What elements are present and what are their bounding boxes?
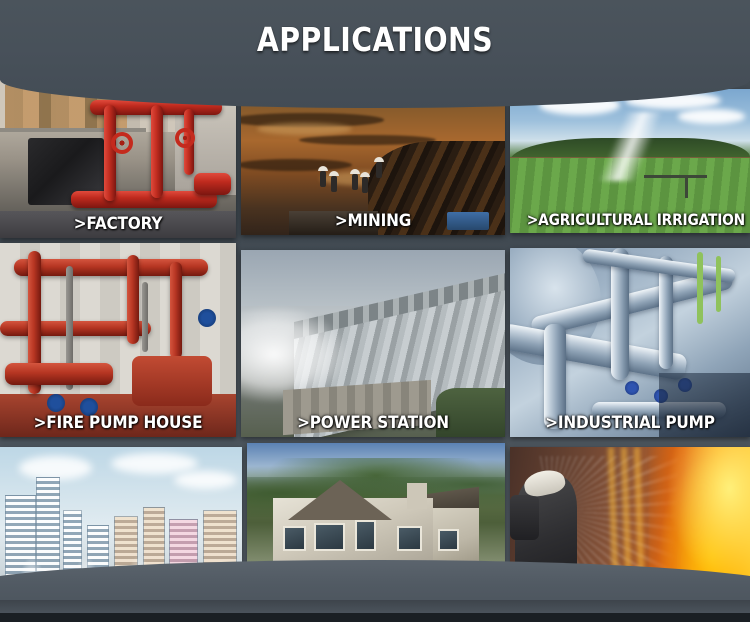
bottom-bar xyxy=(0,613,750,622)
fire-pump-house-scene xyxy=(0,243,236,437)
tile-mining[interactable]: >MINING xyxy=(241,83,505,235)
applications-banner: APPLICATIONS xyxy=(0,0,750,622)
industrial-pump-scene xyxy=(510,248,750,437)
floor-shadow xyxy=(0,600,750,614)
tile-agricultural-irrigation[interactable]: >AGRICULTURAL IRRIGATION xyxy=(510,89,750,233)
tile-industrial-pump[interactable]: >INDUSTRIAL PUMP xyxy=(510,248,750,437)
tile-fire-pump-house[interactable]: >FIRE PUMP HOUSE xyxy=(0,243,236,437)
agricultural-irrigation-scene xyxy=(510,89,750,233)
page-title: APPLICATIONS xyxy=(53,20,698,59)
tile-power-station[interactable]: >POWER STATION xyxy=(241,250,505,437)
power-station-scene xyxy=(241,250,505,437)
factory-scene xyxy=(0,72,236,238)
applications-grid: >FACTORY >MINING xyxy=(0,0,750,622)
mining-scene xyxy=(241,83,505,235)
tile-factory[interactable]: >FACTORY xyxy=(0,72,236,238)
